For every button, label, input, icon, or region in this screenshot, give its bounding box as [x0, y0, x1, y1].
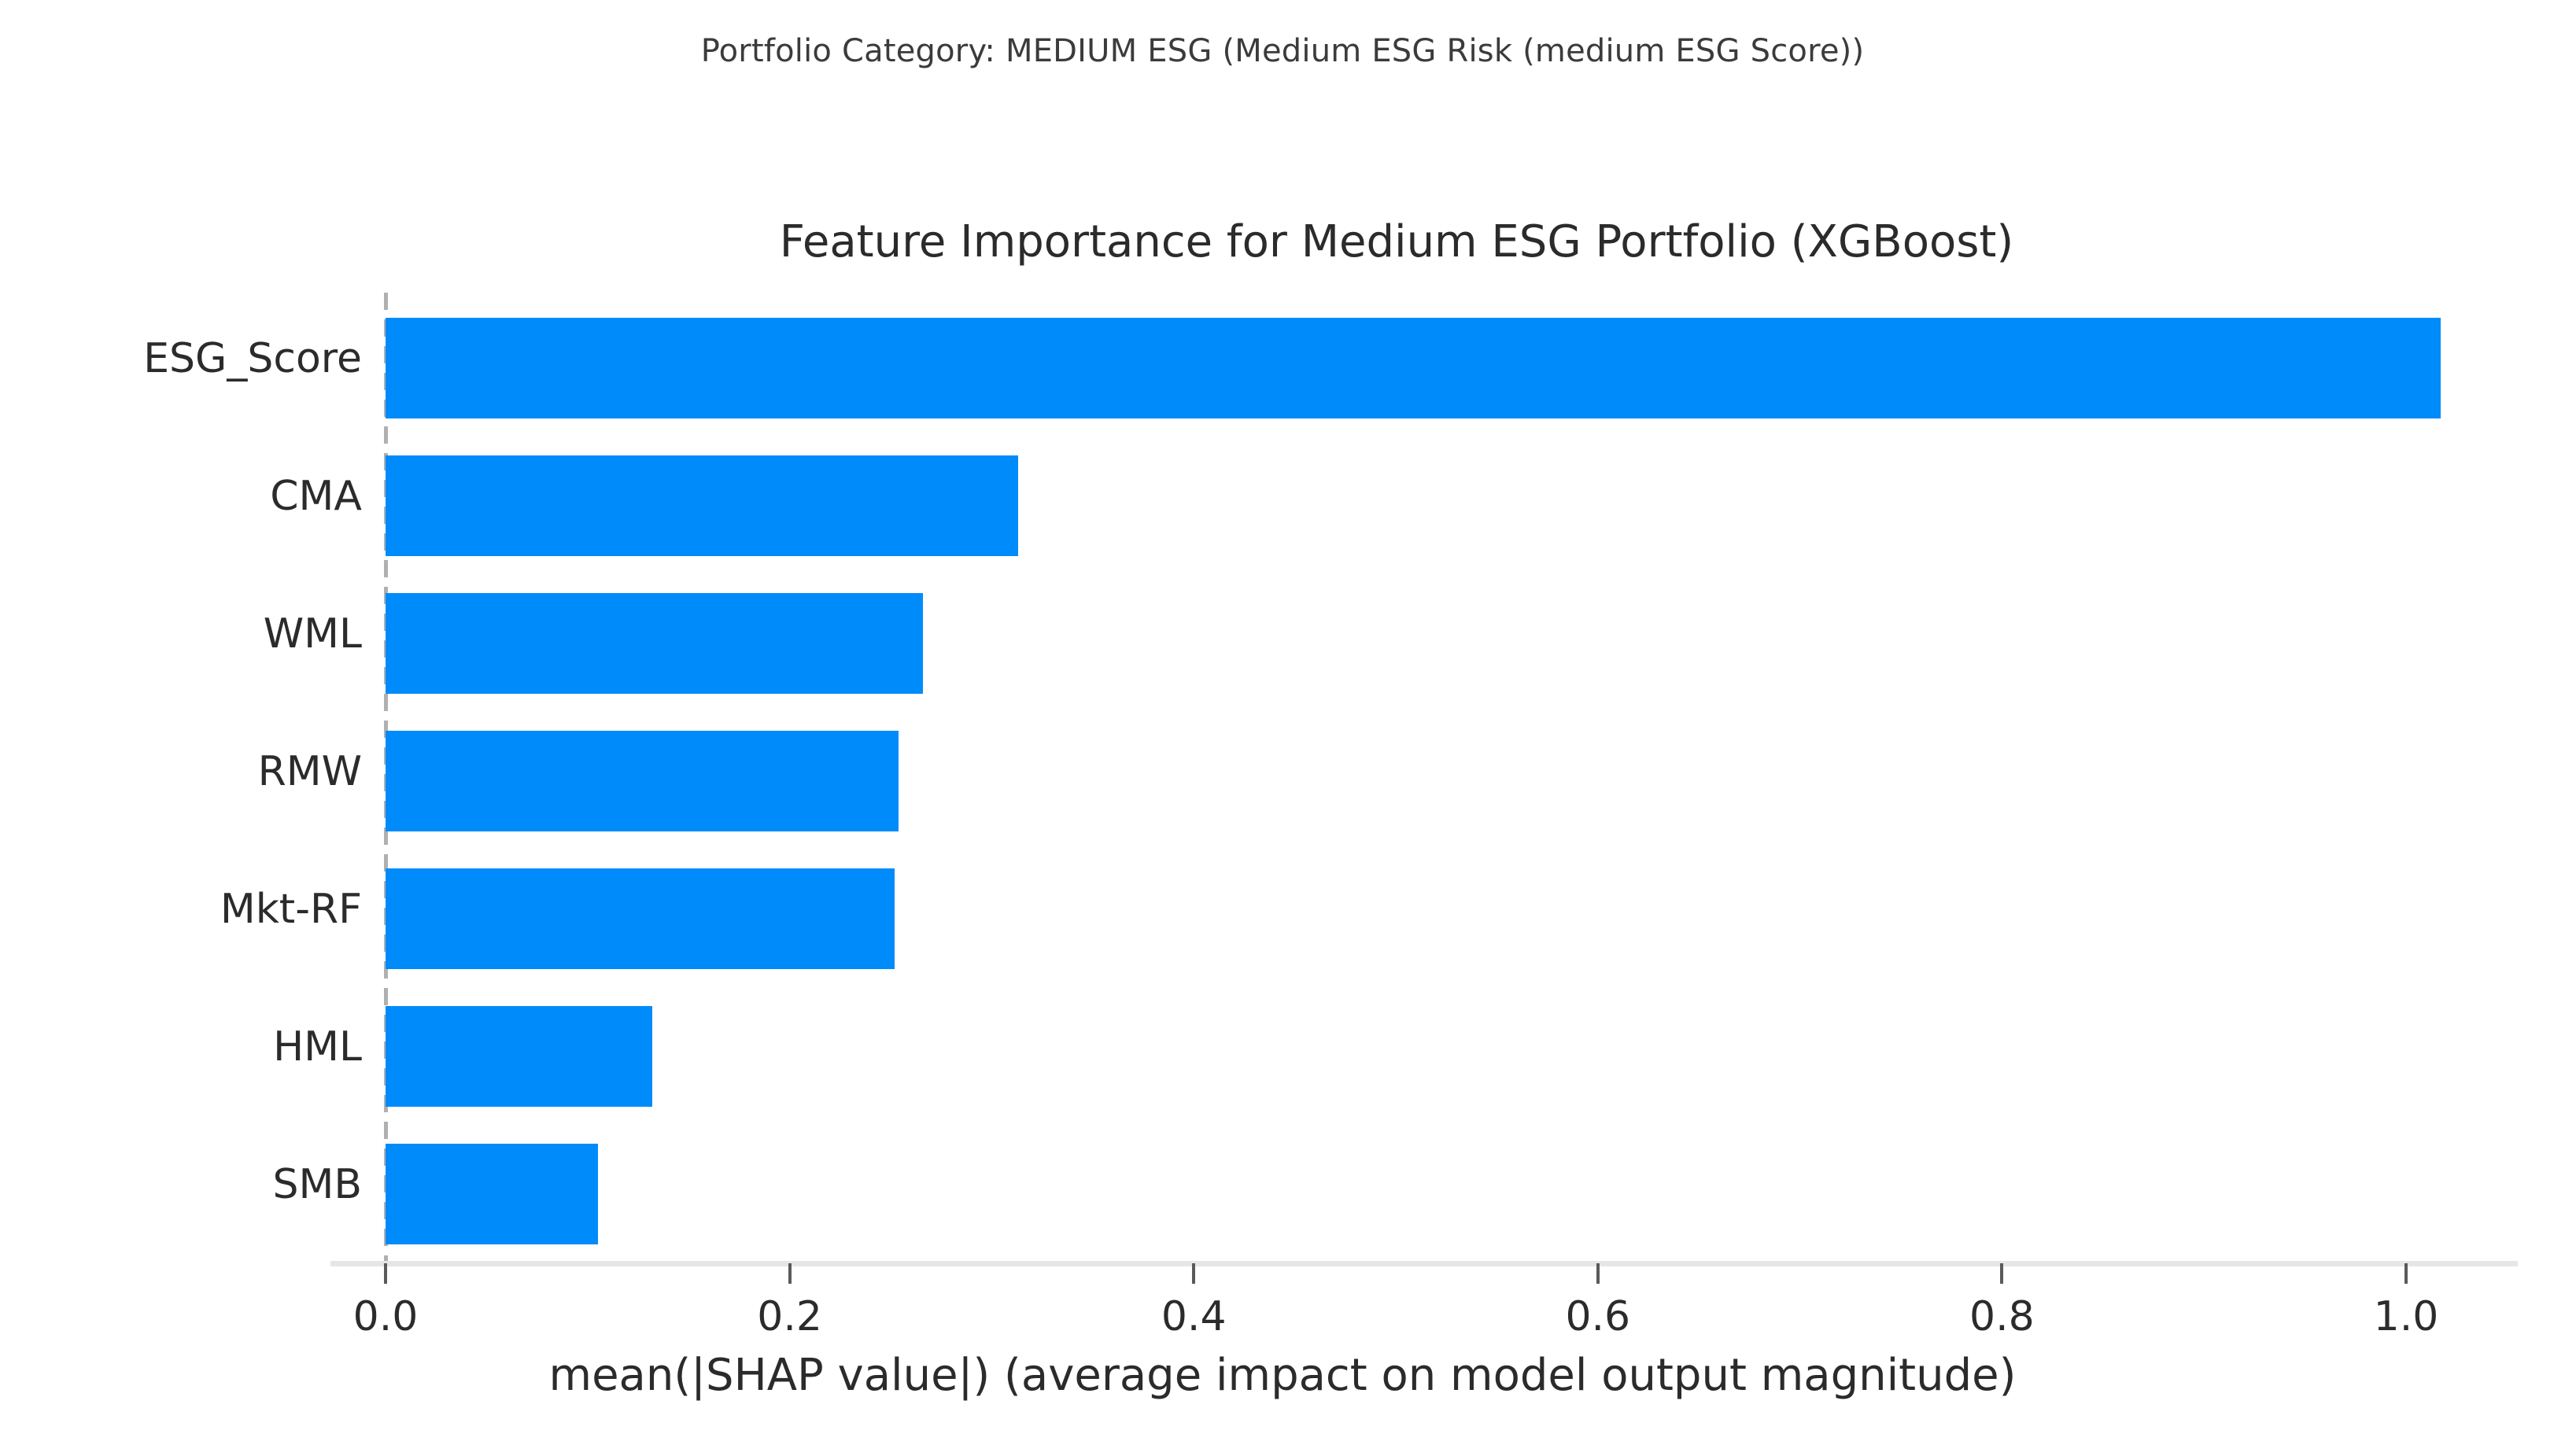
bar-row-hml — [386, 987, 2408, 1125]
bar-row-esg-score — [386, 299, 2408, 437]
y-tick-label-wml: WML — [0, 610, 362, 658]
x-axis-title: mean(|SHAP value|) (average impact on mo… — [0, 1350, 2565, 1401]
bar-cma[interactable] — [386, 455, 1018, 556]
bar-row-rmw — [386, 712, 2408, 850]
bar-row-wml — [386, 574, 2408, 712]
bar-esg-score[interactable] — [386, 318, 2441, 418]
x-tick-mark-0.8 — [2000, 1263, 2003, 1284]
bar-wml[interactable] — [386, 593, 923, 694]
x-tick-mark-0.6 — [1596, 1263, 1600, 1284]
x-tick-label-1.0: 1.0 — [2327, 1293, 2485, 1340]
y-tick-label-mkt-rf: Mkt-RF — [0, 886, 362, 933]
x-tick-mark-0.0 — [384, 1263, 387, 1284]
figure-canvas: Portfolio Category: MEDIUM ESG (Medium E… — [0, 0, 2565, 1456]
plot-area — [386, 299, 2408, 1262]
bar-smb[interactable] — [386, 1144, 598, 1244]
bar-row-smb — [386, 1125, 2408, 1262]
x-tick-label-0.2: 0.2 — [711, 1293, 869, 1340]
bar-row-cma — [386, 437, 2408, 574]
y-axis-tick-labels: ESG_Score CMA WML RMW Mkt-RF HML SMB — [0, 299, 362, 1262]
x-tick-label-0.8: 0.8 — [1923, 1293, 2080, 1340]
x-tick-mark-1.0 — [2404, 1263, 2408, 1284]
bar-rmw[interactable] — [386, 731, 899, 831]
x-axis-line — [330, 1261, 2518, 1266]
figure-suptitle: Portfolio Category: MEDIUM ESG (Medium E… — [0, 33, 2565, 69]
y-tick-label-cma: CMA — [0, 473, 362, 520]
y-tick-label-esg-score: ESG_Score — [0, 335, 362, 382]
x-tick-mark-0.2 — [788, 1263, 792, 1284]
x-tick-label-0.0: 0.0 — [307, 1293, 464, 1340]
y-tick-label-hml: HML — [0, 1023, 362, 1071]
bar-mkt-rf[interactable] — [386, 868, 895, 969]
x-tick-mark-0.4 — [1192, 1263, 1195, 1284]
chart-title: Feature Importance for Medium ESG Portfo… — [386, 216, 2408, 267]
y-tick-label-rmw: RMW — [0, 748, 362, 795]
x-tick-label-0.4: 0.4 — [1115, 1293, 1272, 1340]
x-tick-label-0.6: 0.6 — [1519, 1293, 1677, 1340]
y-tick-label-smb: SMB — [0, 1161, 362, 1208]
bar-row-mkt-rf — [386, 850, 2408, 987]
bar-hml[interactable] — [386, 1006, 652, 1107]
